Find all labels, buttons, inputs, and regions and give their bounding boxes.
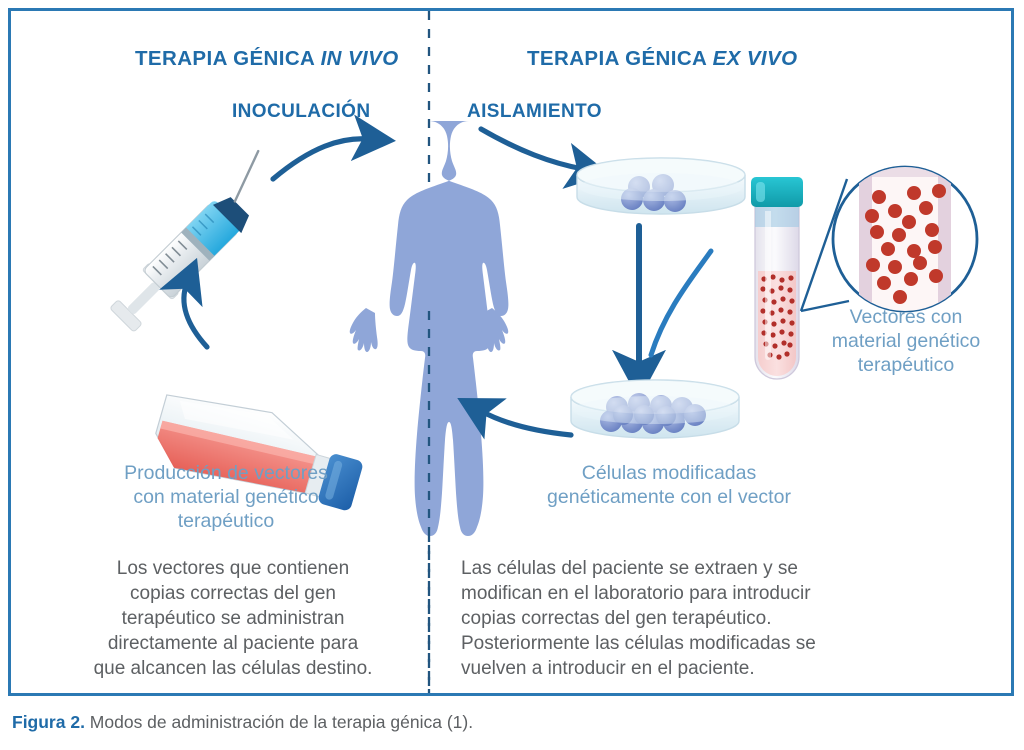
curved-arrow-right	[481, 129, 583, 169]
figure-frame: TERAPIA GÉNICA IN VIVO INOCULACIÓN TERAP…	[8, 8, 1014, 696]
left-step-label: INOCULACIÓN	[232, 101, 370, 123]
right-title-italic: EX VIVO	[713, 47, 798, 70]
magnifier-lens	[833, 161, 977, 321]
right-step-label: AISLAMIENTO	[467, 101, 602, 123]
petri-dish-icon	[577, 158, 745, 214]
figure-caption-label: Figura 2.	[12, 712, 85, 732]
caption-vector-production: Producción de vectores con material gené…	[61, 461, 391, 534]
right-title-prefix: TERAPIA GÉNICA	[527, 47, 713, 70]
syringe-icon	[105, 151, 290, 336]
figure-caption: Figura 2. Modos de administración de la …	[12, 712, 1002, 733]
petri-dish-modified-icon	[571, 380, 739, 438]
curved-arrow-left	[481, 411, 571, 435]
left-title-prefix: TERAPIA GÉNICA	[135, 47, 321, 70]
left-panel-title: TERAPIA GÉNICA IN VIVO	[135, 47, 399, 71]
right-panel-title: TERAPIA GÉNICA EX VIVO	[527, 47, 797, 71]
curved-arrow-up-right	[273, 139, 369, 179]
paragraph-ex-vivo: Las células del paciente se extraen y se…	[461, 556, 951, 681]
figure-caption-text: Modos de administración de la terapia gé…	[85, 712, 473, 732]
caption-vectors: Vectores con material genético terapéuti…	[801, 305, 1011, 378]
curved-arrow-up-left	[184, 283, 207, 347]
paragraph-in-vivo: Los vectores que contienen copias correc…	[59, 556, 407, 681]
diagram-stage: TERAPIA GÉNICA IN VIVO INOCULACIÓN TERAP…	[11, 11, 1011, 693]
caption-modified-cells: Células modificadas genéticamente con el…	[489, 461, 849, 509]
left-title-italic: IN VIVO	[321, 47, 399, 70]
test-tube-icon	[751, 177, 803, 379]
curved-arrow-down-left	[651, 251, 711, 355]
